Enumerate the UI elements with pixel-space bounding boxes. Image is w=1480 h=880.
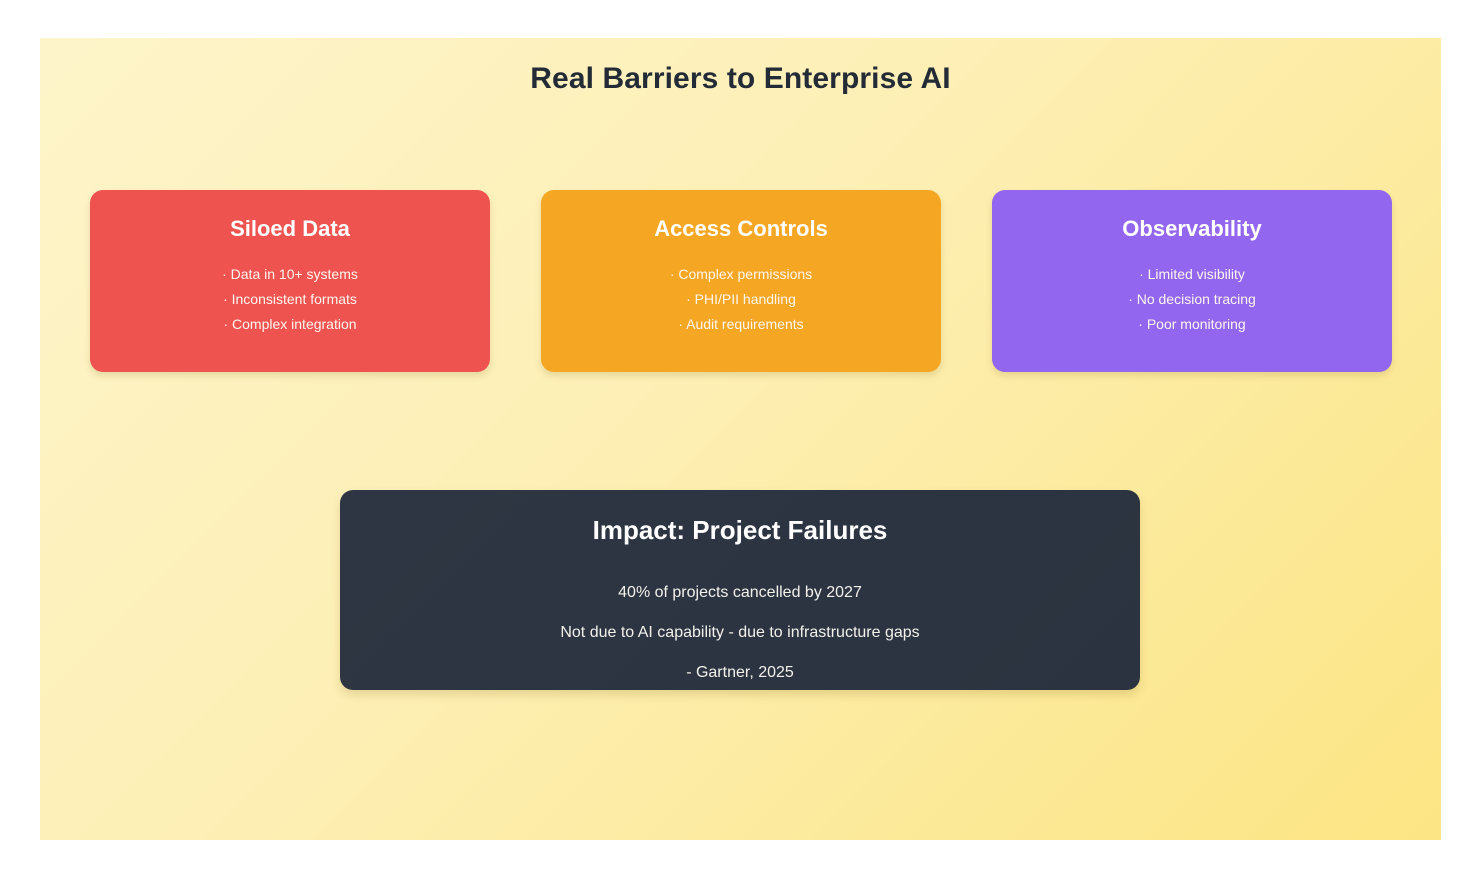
list-item: · No decision tracing <box>992 287 1392 312</box>
barrier-card-bullet-list: · Data in 10+ systems · Inconsistent for… <box>90 262 490 337</box>
page-title: Real Barriers to Enterprise AI <box>40 62 1441 96</box>
impact-card-title: Impact: Project Failures <box>340 516 1140 546</box>
list-item: · Complex permissions <box>541 262 941 287</box>
list-item: · Audit requirements <box>541 312 941 337</box>
barrier-card-title: Siloed Data <box>90 217 490 241</box>
barrier-card-title: Access Controls <box>541 217 941 241</box>
list-item: · Data in 10+ systems <box>90 262 490 287</box>
impact-statistic: 40% of projects cancelled by 2027 <box>340 573 1140 613</box>
impact-source-citation: - Gartner, 2025 <box>340 653 1140 693</box>
list-item: · Complex integration <box>90 312 490 337</box>
barrier-card-siloed-data[interactable]: Siloed Data · Data in 10+ systems · Inco… <box>90 190 490 372</box>
barrier-card-title: Observability <box>992 217 1392 241</box>
barrier-card-bullet-list: · Limited visibility · No decision traci… <box>992 262 1392 337</box>
list-item: · Poor monitoring <box>992 312 1392 337</box>
list-item: · PHI/PII handling <box>541 287 941 312</box>
impact-explanation: Not due to AI capability - due to infras… <box>340 613 1140 653</box>
list-item: · Limited visibility <box>992 262 1392 287</box>
barrier-cards-row: Siloed Data · Data in 10+ systems · Inco… <box>90 190 1392 372</box>
barrier-card-observability[interactable]: Observability · Limited visibility · No … <box>992 190 1392 372</box>
barrier-card-bullet-list: · Complex permissions · PHI/PII handling… <box>541 262 941 337</box>
barrier-card-access-controls[interactable]: Access Controls · Complex permissions · … <box>541 190 941 372</box>
impact-card[interactable]: Impact: Project Failures 40% of projects… <box>340 490 1140 690</box>
slide-canvas: Real Barriers to Enterprise AI Siloed Da… <box>40 38 1441 840</box>
list-item: · Inconsistent formats <box>90 287 490 312</box>
